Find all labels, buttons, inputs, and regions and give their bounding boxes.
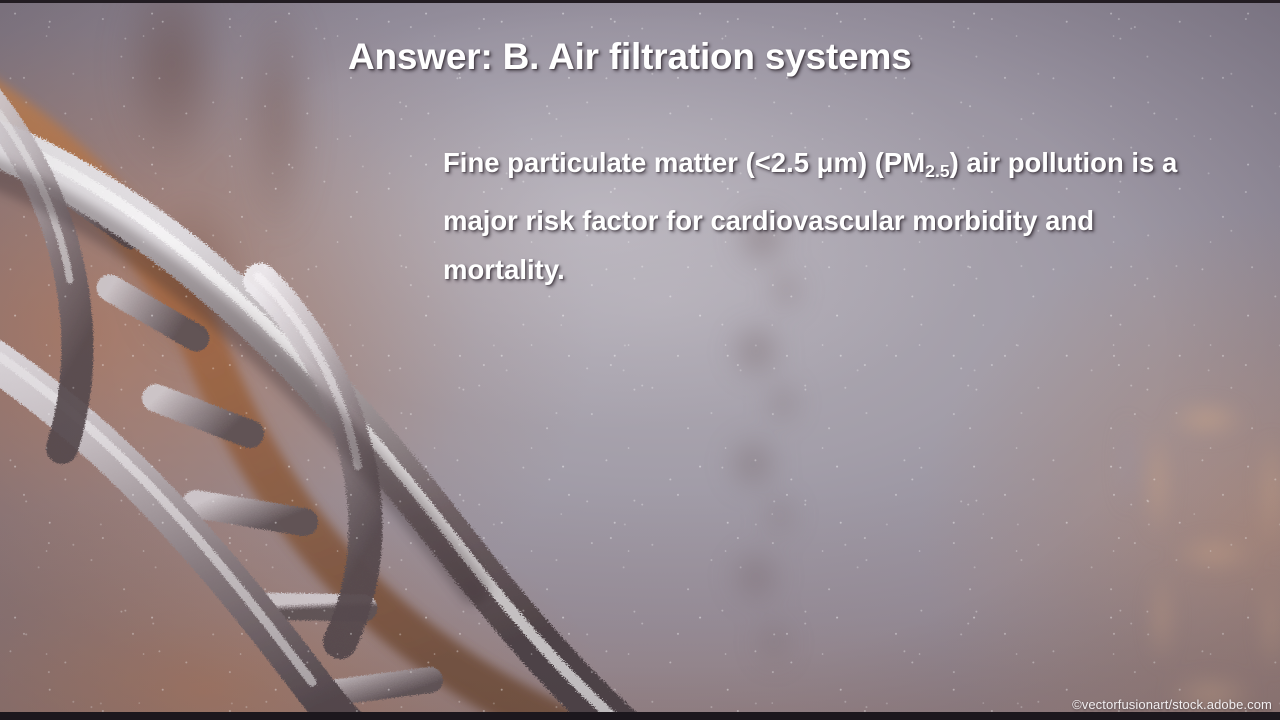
helix-strand-back — [0, 314, 404, 720]
background-warm-left-glow — [0, 0, 1280, 720]
background-bloom-highlight — [0, 0, 1280, 720]
background-blurred-helix-right — [1120, 400, 1280, 720]
background-vignette — [0, 0, 1280, 720]
background-warm-bottom-band — [0, 0, 1280, 720]
slide-title: Answer: B. Air filtration systems — [348, 36, 912, 78]
background-warm-right-glow — [0, 0, 1280, 720]
background-warm-bottomleft-glow — [0, 0, 1280, 720]
helix-upper-arm — [0, 86, 77, 448]
slide-canvas: Answer: B. Air filtration systems Fine p… — [0, 0, 1280, 720]
helix-right-arm — [258, 276, 366, 642]
top-edge-bar — [0, 0, 1280, 3]
body-line-1-part-1: Fine particulate matter (<2.5 μm) (PM — [443, 147, 925, 178]
dna-helix-graphic — [0, 30, 660, 720]
helix-shadow — [0, 154, 474, 590]
image-attribution: ©vectorfusionart/stock.adobe.com — [1072, 697, 1272, 712]
background-blurred-helix-left — [60, 0, 390, 400]
helix-rungs — [52, 180, 430, 694]
slide-body-text: Fine particulate matter (<2.5 μm) (PM2.5… — [443, 138, 1203, 294]
body-line-1-part-2: ) air — [950, 147, 1000, 178]
background-particle-speckles — [0, 0, 1280, 720]
pm-subscript: 2.5 — [925, 161, 949, 181]
bottom-edge-bar — [0, 712, 1280, 720]
background-base-gradient — [0, 0, 1280, 720]
